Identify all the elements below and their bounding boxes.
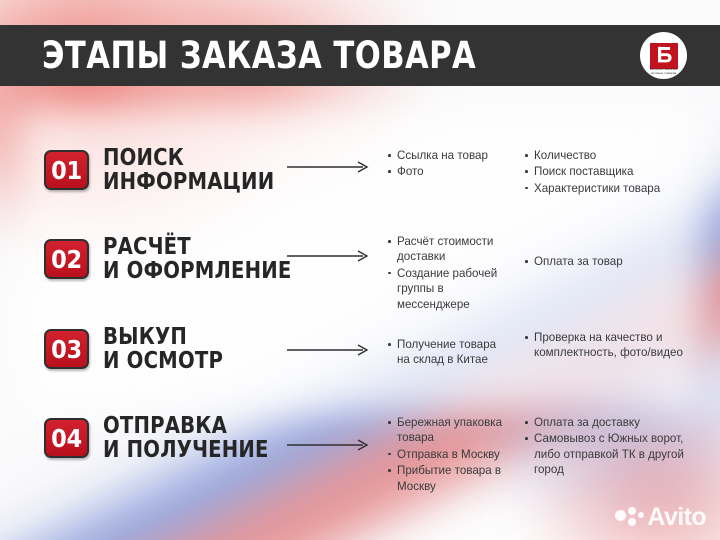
step-badge-02: 02 [44,239,89,279]
bullet-item: Ссылка на товар [387,148,512,163]
step-number-03: 03 [51,337,82,362]
step-02-column-left: Расчёт стоимости доставки Создание рабоч… [387,234,517,313]
step-number-04: 04 [51,426,82,451]
step-01-column-left: Ссылка на товар Фото [387,148,512,181]
step-number-02: 02 [51,247,82,272]
bullet-item: Получение товара на склад в Китае [387,337,509,368]
flow-arrow-01 [287,160,370,174]
bullet-item: Характеристики товара [524,181,714,196]
step-number-01: 01 [51,158,82,183]
infographic-canvas: ЭТАПЫ ЗАКАЗА ТОВАРА Интернет-магазин опт… [0,0,720,540]
bullet-item: Отправка в Москву [387,447,512,462]
step-title-04-line2: И ПОЛУЧЕНИЕ [103,437,269,463]
step-title-01-line2: ИНФОРМАЦИИ [103,169,274,195]
step-badge-01: 01 [44,150,89,190]
step-header-04: 04 ОТПРАВКА И ПОЛУЧЕНИЕ [44,418,277,462]
step-title-02-line1: РАСЧЁТ [103,234,191,260]
step-header-03: 03 ВЫКУП И ОСМОТР [44,329,229,373]
bullet-item: Расчёт стоимости доставки [387,234,517,265]
step-title-01-line1: ПОИСК [103,145,184,171]
step-badge-03: 03 [44,329,89,369]
flow-arrow-02 [287,249,370,263]
step-01-column-right: Количество Поиск поставщика Характеристи… [524,148,714,197]
bullet-item: Оплата за доставку [524,415,704,430]
bullet-item: Проверка на качество и комплектность, фо… [524,330,699,361]
step-title-04-line1: ОТПРАВКА [103,413,227,439]
bullet-item: Фото [387,164,512,179]
step-03-column-left: Получение товара на склад в Китае [387,337,509,369]
bullet-item: Создание рабочей группы в мессенджере [387,266,517,312]
bullet-item: Самовывоз с Южных ворот, либо отправкой … [524,431,704,477]
step-title-01: ПОИСК ИНФОРМАЦИИ [103,147,274,194]
bullet-item: Бережная упаковка товара [387,415,512,446]
avito-watermark: Avito [615,505,706,530]
step-header-01: 01 ПОИСК ИНФОРМАЦИИ [44,150,283,194]
bullet-item: Оплата за товар [524,254,714,269]
step-03-column-right: Проверка на качество и комплектность, фо… [524,330,699,362]
avito-dots-icon [615,507,644,529]
step-04-column-right: Оплата за доставку Самовывоз с Южных вор… [524,415,704,479]
step-title-03-line2: И ОСМОТР [103,348,223,374]
avito-wordmark: Avito [647,505,706,530]
bullet-item: Прибытие товара в Москву [387,463,512,494]
step-title-03: ВЫКУП И ОСМОТР [103,326,223,373]
step-title-04: ОТПРАВКА И ПОЛУЧЕНИЕ [103,415,269,462]
step-title-02: РАСЧЁТ И ОФОРМЛЕНИЕ [103,236,292,283]
bullet-item: Количество [524,148,714,163]
flow-arrow-04 [287,438,370,452]
bullet-item: Поиск поставщика [524,164,714,179]
step-header-02: 02 РАСЧЁТ И ОФОРМЛЕНИЕ [44,239,301,283]
step-title-03-line1: ВЫКУП [103,324,187,350]
step-title-02-line2: И ОФОРМЛЕНИЕ [103,258,292,284]
flow-arrow-03 [287,343,370,357]
steps-list: 01 ПОИСК ИНФОРМАЦИИ Ссылка на товар Фото… [0,0,720,540]
step-badge-04: 04 [44,418,89,458]
step-04-column-left: Бережная упаковка товара Отправка в Моск… [387,415,512,495]
step-02-column-right: Оплата за товар [524,254,714,270]
